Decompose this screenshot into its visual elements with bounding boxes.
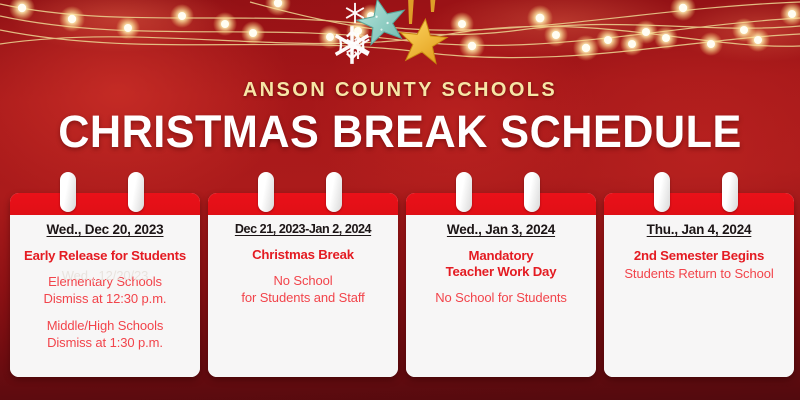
binder-ring-icon [722,172,738,212]
binder-ring-icon [60,172,76,212]
card-detail: Students Return to School [610,266,788,283]
page-title: CHRISTMAS BREAK SCHEDULE [16,106,784,158]
calendar-header-band [208,193,398,215]
card-detail: No School for Students [412,290,590,307]
snowflake-icon [347,33,370,59]
calendar-body: Wed., Dec 20, 2023 Early Release for Stu… [10,215,200,377]
schedule-card[interactable]: Wed., Jan 3, 2024 Mandatory Teacher Work… [406,193,596,377]
snowflake-icon [336,26,369,64]
calendar-body: Thu., Jan 4, 2024 2nd Semester Begins St… [604,215,794,377]
calendar-header-band [604,193,794,215]
card-headline: Mandatory Teacher Work Day [412,248,590,280]
organization-name: ANSON COUNTY SCHOOLS [0,79,800,102]
teal-star-icon [354,0,410,47]
card-detail: Middle/High Schools Dismiss at 1:30 p.m. [16,318,194,352]
calendar-header-band [406,193,596,215]
snowflake-icon [346,3,364,23]
card-headline: Early Release for Students [16,248,194,264]
card-detail: Elementary Schools Dismiss at 12:30 p.m. [16,274,194,308]
schedule-card-list: Wed., Dec 20, 2023 Early Release for Stu… [10,193,794,377]
card-headline: 2nd Semester Begins [610,248,788,264]
card-date: Dec 21, 2023-Jan 2, 2024 [214,222,392,236]
card-headline: Christmas Break [214,247,392,263]
card-date: Wed., Jan 3, 2024 [412,222,590,237]
calendar-body: Wed., Jan 3, 2024 Mandatory Teacher Work… [406,215,596,377]
binder-ring-icon [326,172,342,212]
card-date: Thu., Jan 4, 2024 [610,222,788,237]
gold-star-icon [398,17,449,65]
holiday-decoration-banner [0,0,800,78]
calendar-header-band [10,193,200,215]
gold-star-icon [408,0,436,24]
binder-ring-icon [456,172,472,212]
string-lights-icon [9,0,800,61]
schedule-card[interactable]: Dec 21, 2023-Jan 2, 2024 Christmas Break… [208,193,398,377]
christmas-break-poster: ANSON COUNTY SCHOOLS CHRISTMAS BREAK SCH… [0,0,800,400]
card-detail: No School for Students and Staff [214,273,392,307]
schedule-card[interactable]: Thu., Jan 4, 2024 2nd Semester Begins St… [604,193,794,377]
binder-ring-icon [128,172,144,212]
binder-ring-icon [524,172,540,212]
binder-ring-icon [258,172,274,212]
binder-ring-icon [654,172,670,212]
calendar-body: Dec 21, 2023-Jan 2, 2024 Christmas Break… [208,215,398,377]
card-date: Wed., Dec 20, 2023 [16,222,194,237]
schedule-card[interactable]: Wed., Dec 20, 2023 Early Release for Stu… [10,193,200,377]
